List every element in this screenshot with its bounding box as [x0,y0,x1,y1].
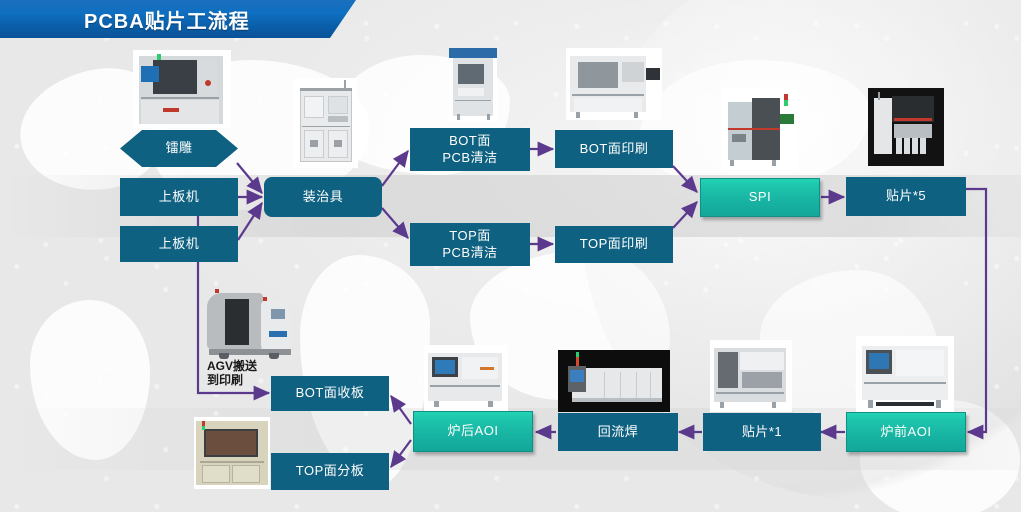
spi-inspection-machine-photo [722,88,798,170]
node-fixture-mount-label: 装治具 [303,189,344,205]
node-top-pcb-clean-label-line2: PCB清洁 [442,245,497,261]
node-mount-5-label: 贴片*5 [886,188,926,204]
reflow-oven-photo [558,350,670,412]
node-reflow-soldering-label: 回流焊 [598,424,639,440]
node-bot-print-label: BOT面印刷 [580,141,649,157]
node-top-depanel-label: TOP面分板 [296,463,365,479]
flowchart-canvas: PCBA贴片工流程 [0,0,1021,512]
node-post-reflow-aoi-label: 炉后AOI [448,423,499,439]
node-bot-pcb-clean-label-line1: BOT面 [449,133,491,149]
stencil-printer-machine-photo [566,48,662,120]
agv-annotation-line2: 到印刷 [207,374,257,388]
page-title: PCBA贴片工流程 [84,5,250,34]
node-mount-1-label: 贴片*1 [742,424,782,440]
node-bot-print[interactable]: BOT面印刷 [555,130,673,168]
node-loader-2[interactable]: 上板机 [120,226,238,262]
node-bot-collect-board-label: BOT面收板 [296,385,365,401]
node-top-pcb-clean-label-line1: TOP面 [449,228,491,244]
node-bot-pcb-clean[interactable]: BOT面 PCB清洁 [410,128,530,171]
laser-marking-machine-photo [133,50,231,128]
node-mount-5[interactable]: 贴片*5 [846,177,966,216]
node-loader-2-label: 上板机 [159,236,200,252]
node-bot-collect-board[interactable]: BOT面收板 [271,376,389,411]
pcb-cleaner-machine-photo [449,48,497,122]
single-mounter-machine-photo [710,340,792,412]
fixture-mount-machine-photo [294,78,358,168]
agv-transport-robot-photo [203,283,295,363]
node-loader-1-label: 上板机 [159,189,200,205]
pre-reflow-aoi-machine-photo [856,336,954,414]
node-laser-marking-label: 镭雕 [165,140,192,156]
depaneling-machine-photo [194,417,270,489]
node-post-reflow-aoi[interactable]: 炉后AOI [413,411,533,452]
node-top-pcb-clean[interactable]: TOP面 PCB清洁 [410,223,530,266]
node-top-depanel[interactable]: TOP面分板 [271,453,389,490]
node-pre-reflow-aoi-label: 炉前AOI [881,424,932,440]
agv-annotation-line1: AGV搬送 [207,360,257,374]
node-spi-label: SPI [749,189,771,205]
node-fixture-mount[interactable]: 装治具 [264,177,382,217]
post-reflow-aoi-machine-photo [424,345,508,411]
node-reflow-soldering[interactable]: 回流焊 [558,413,678,451]
node-mount-1[interactable]: 贴片*1 [703,413,821,451]
node-laser-marking[interactable]: 镭雕 [120,130,238,167]
node-top-print[interactable]: TOP面印刷 [555,226,673,263]
node-pre-reflow-aoi[interactable]: 炉前AOI [846,412,966,452]
node-top-print-label: TOP面印刷 [580,236,649,252]
title-banner: PCBA贴片工流程 [0,0,366,38]
node-spi[interactable]: SPI [700,178,820,217]
node-bot-pcb-clean-label-line2: PCB清洁 [442,150,497,166]
agv-transport-annotation: AGV搬送 到印刷 [207,360,257,388]
smt-mounter-machine-photo [868,88,944,166]
node-loader-1[interactable]: 上板机 [120,178,238,216]
